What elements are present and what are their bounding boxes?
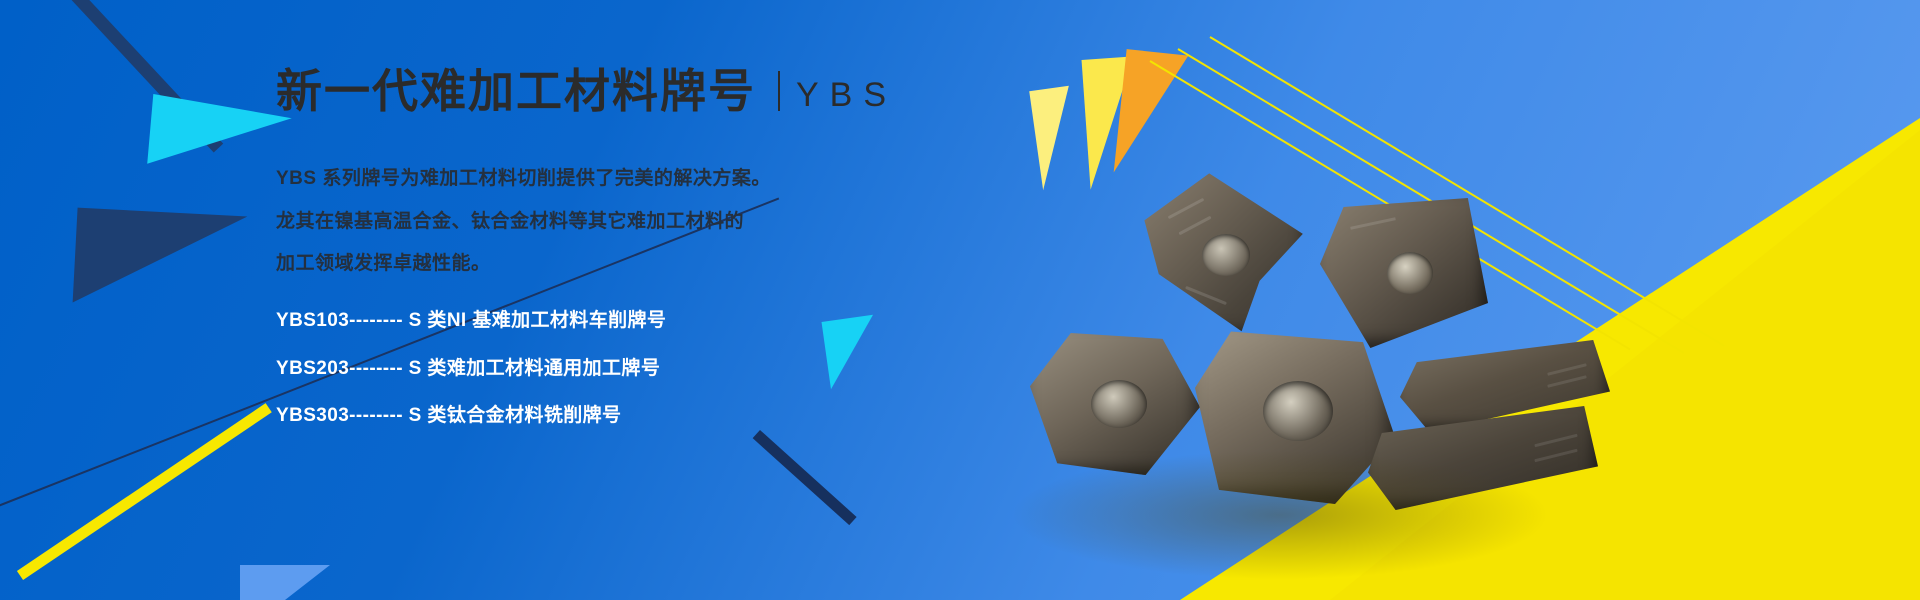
- insert-hole: [1263, 381, 1333, 441]
- paragraph-line: YBS 系列牌号为难加工材料切削提供了完美的解决方案。: [276, 165, 771, 194]
- navy-triangle-icon: [73, 208, 248, 312]
- page-title: 新一代难加工材料牌号: [276, 68, 756, 114]
- cyan-triangle-2-icon: [822, 315, 883, 390]
- yellow-diagonal-bar-icon: [17, 403, 272, 580]
- grade-list: YBS103-------- S 类NI 基难加工材料车削牌号 YBS203--…: [276, 308, 666, 451]
- wnmg-trigon-insert: [1130, 170, 1310, 338]
- grade-list-item: YBS103-------- S 类NI 基难加工材料车削牌号: [276, 308, 666, 334]
- cyan-triangle-icon: [147, 94, 293, 176]
- navy-diagonal-bar-2-icon: [753, 430, 857, 525]
- title-divider: [778, 71, 780, 111]
- insert-hole: [1387, 252, 1433, 294]
- grade-list-item: YBS203-------- S 类难加工材料通用加工牌号: [276, 356, 666, 382]
- product-shadow: [1010, 450, 1550, 580]
- banner-paragraph: YBS 系列牌号为难加工材料切削提供了完美的解决方案。 龙其在镍基高温合金、钛合…: [276, 165, 771, 293]
- paragraph-line: 加工领域发挥卓越性能。: [276, 250, 771, 279]
- product-insert-group: [1000, 150, 1560, 570]
- hero-banner: 新一代难加工材料牌号 YBS YBS 系列牌号为难加工材料切削提供了完美的解决方…: [0, 0, 1920, 600]
- paragraph-line: 龙其在镍基高温合金、钛合金材料等其它难加工材料的: [276, 208, 771, 237]
- cnmg-square-insert: [1320, 198, 1488, 348]
- title-subtitle: YBS: [796, 78, 897, 114]
- banner-title-row: 新一代难加工材料牌号 YBS: [276, 68, 897, 114]
- insert-hole: [1202, 234, 1250, 276]
- light-blue-triangle-icon: [240, 565, 330, 600]
- grade-list-item: YBS303-------- S 类钛合金材料铣削牌号: [276, 403, 666, 429]
